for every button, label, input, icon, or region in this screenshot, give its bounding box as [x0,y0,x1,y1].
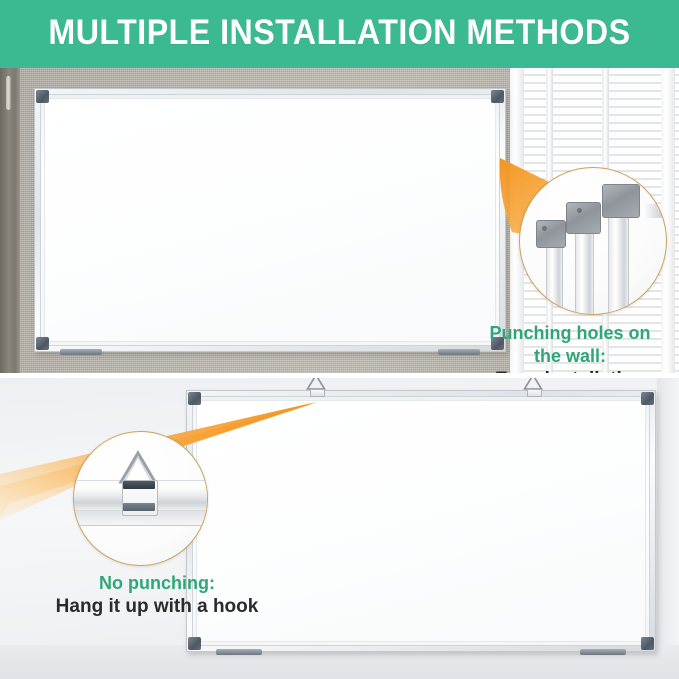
product-infographic: MULTIPLE INSTALLATION METHODS [0,0,679,679]
whiteboard-surface [44,98,496,342]
panel-punching-holes: Punching holes on the wall: Easy install… [0,68,679,373]
frame-rail-2 [575,220,594,315]
frame-rail-3 [608,204,629,315]
callout-no-punching: No punching: Hang it up with a hook [12,571,302,619]
whiteboard-corner-bottom-left [188,637,201,650]
hook-clip-band-upper [123,481,155,489]
wall-corner-right [657,378,679,679]
whiteboard-frame [34,88,506,352]
wall-bracket-small [536,220,566,248]
hook-clip-1 [310,389,325,397]
callout-heading-line-1: Punching holes on [470,322,670,345]
panel-no-punching: No punching: Hang it up with a hook [0,378,679,679]
hook-clip-band-lower [123,503,155,511]
magnifier-hook-detail [73,431,208,566]
door-hinge-icon [6,76,11,110]
header-banner: MULTIPLE INSTALLATION METHODS [0,0,679,68]
whiteboard-corner-top-right [491,90,504,103]
callout-heading-line-2: the wall: [470,345,670,368]
whiteboard-corner-top-right [641,392,654,405]
bracket-screw-hole-1 [542,226,547,231]
whiteboard-corner-top-left [36,90,49,103]
hook-clip-2 [527,389,542,397]
page-title: MULTIPLE INSTALLATION METHODS [27,13,652,53]
whiteboard-punching [34,88,506,352]
door-frame-edge [0,68,20,373]
marker-tray-left [216,649,262,655]
whiteboard-corner-bottom-left [36,337,49,350]
bracket-screw-hole-2 [577,208,582,213]
marker-tray-right [580,649,626,655]
marker-tray-left [60,349,102,355]
callout-body-line-1: Hang it up with a hook [12,595,302,619]
magnifier-bracket-detail [519,167,667,315]
wall-bracket-large [602,184,640,218]
callout-punching: Punching holes on the wall: Easy install… [470,322,670,373]
callout-heading: No punching: [12,571,302,595]
whiteboard-corner-bottom-right [641,637,654,650]
wall-bracket-medium [566,202,601,234]
